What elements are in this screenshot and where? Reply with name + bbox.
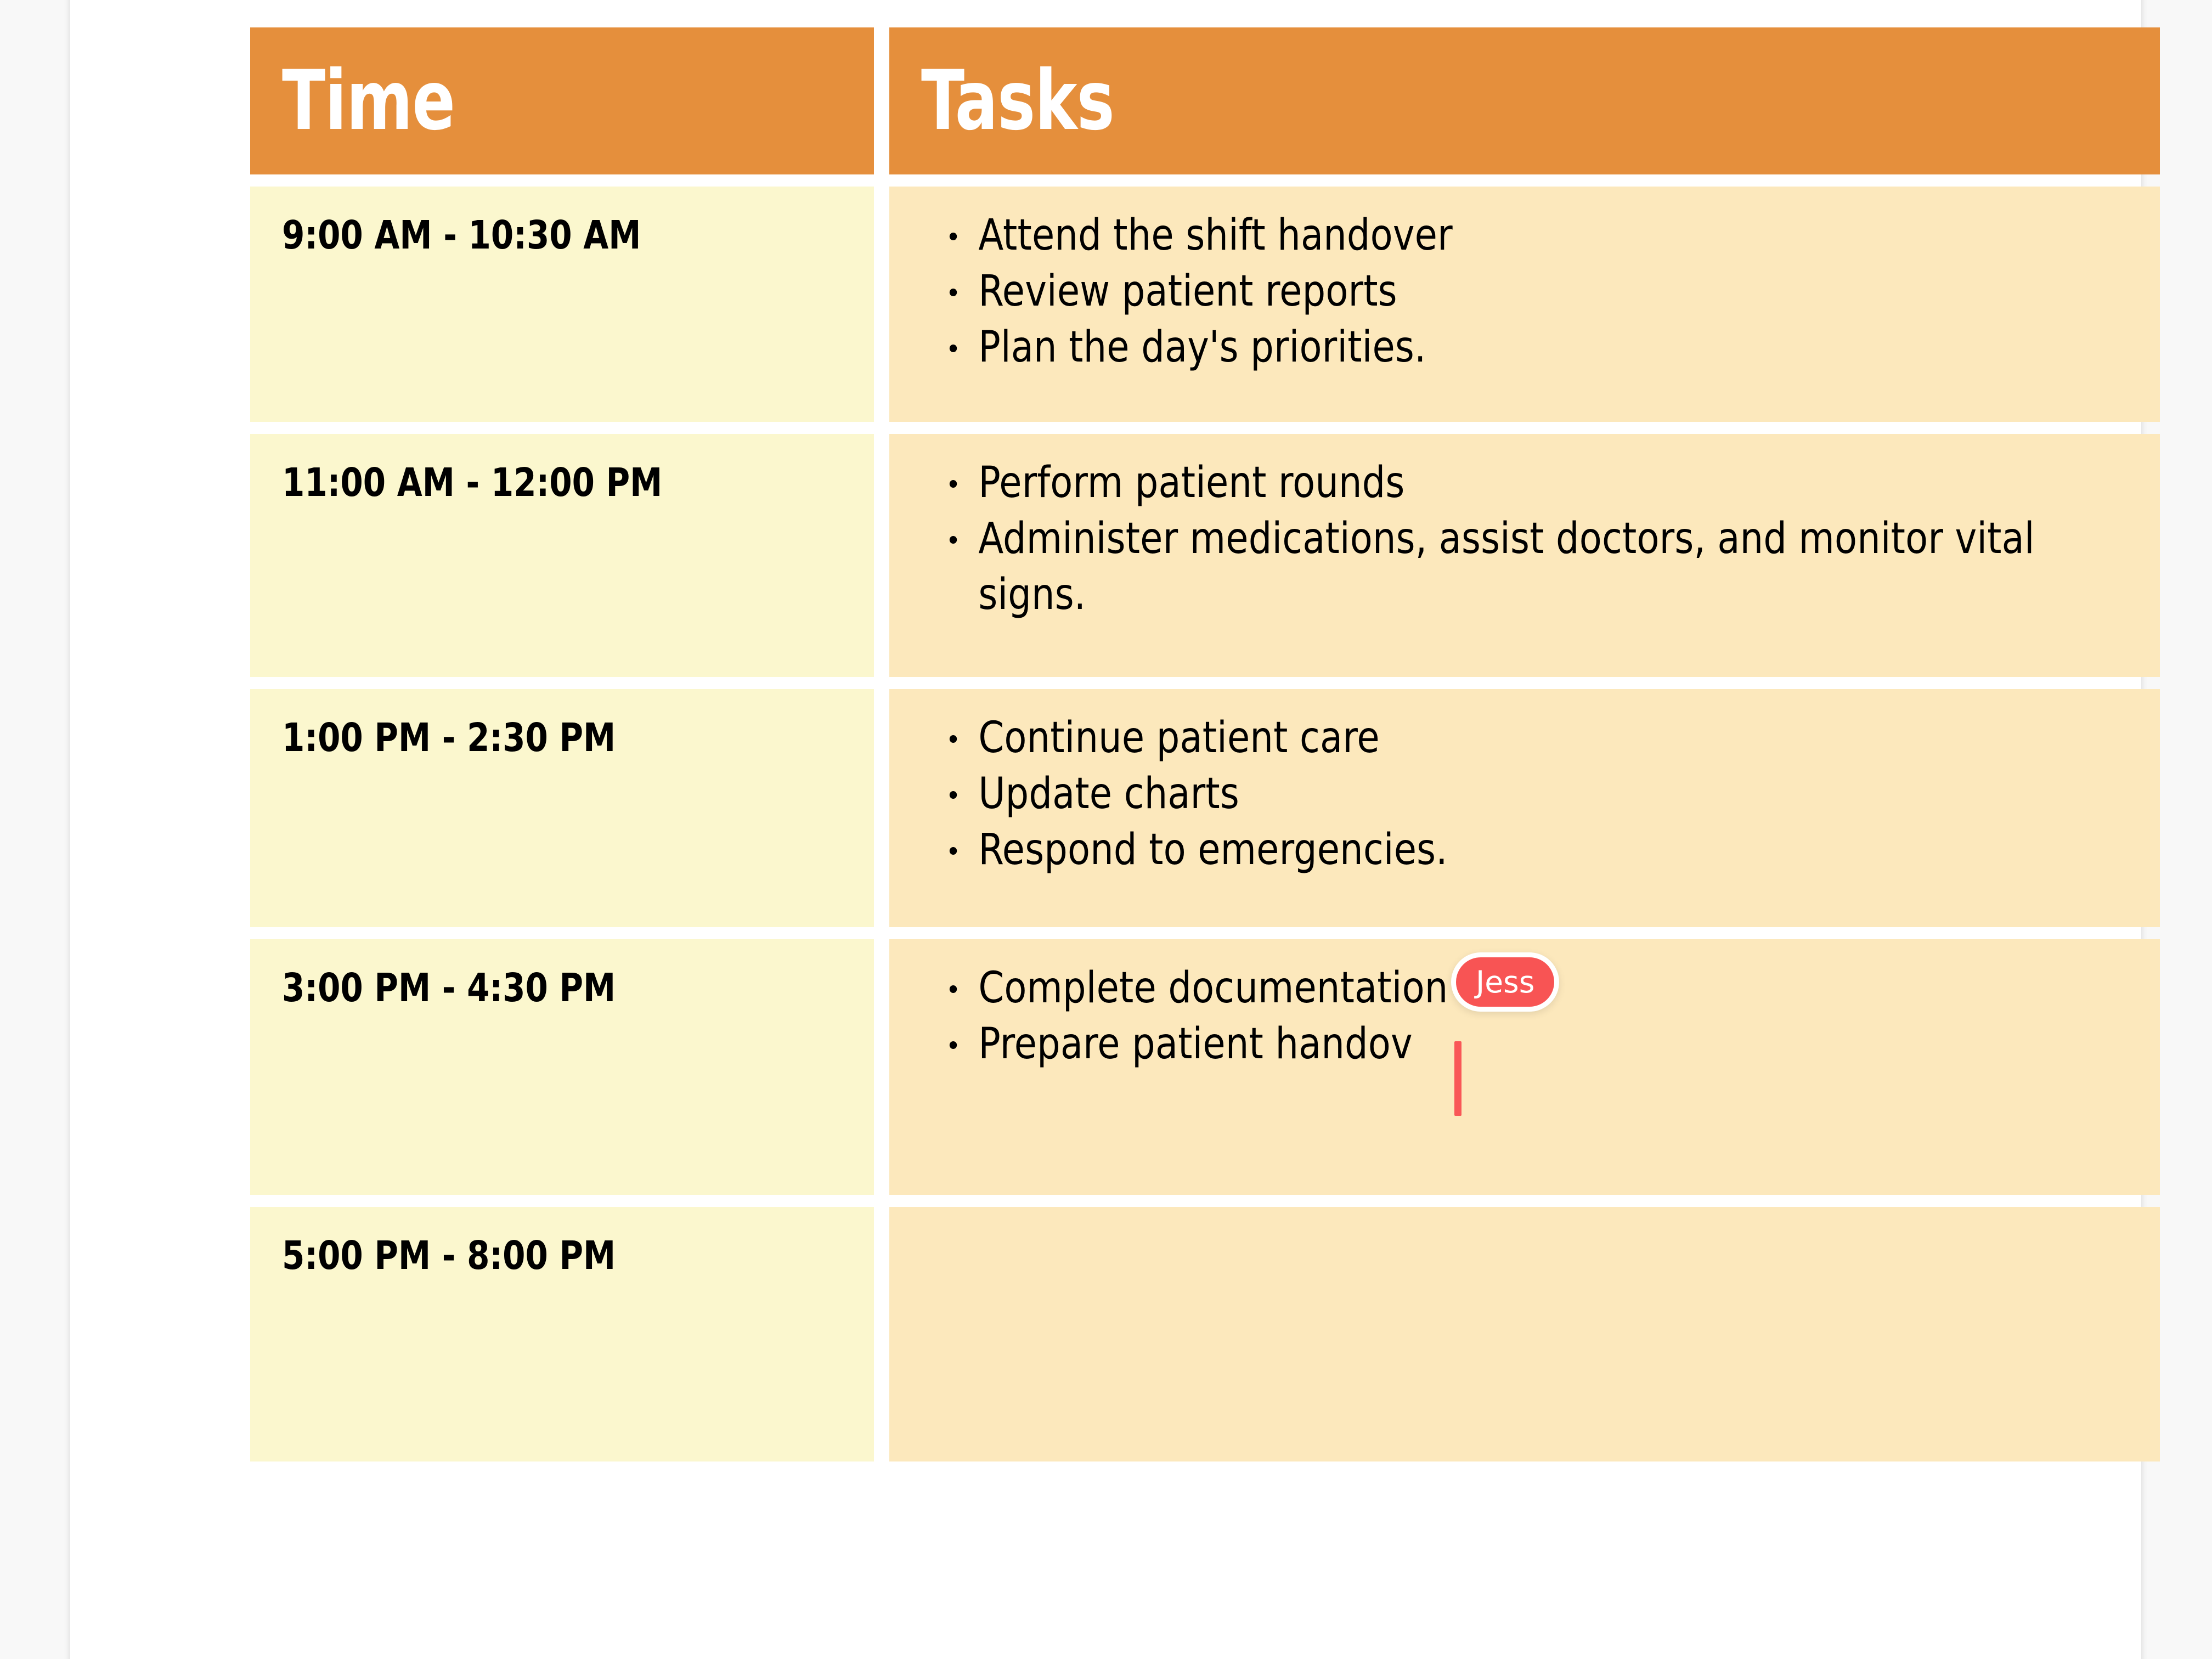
time-value: 3:00 PM - 4:30 PM <box>282 968 812 1009</box>
list-item-editing[interactable]: Prepare patient handov <box>889 1016 2071 1072</box>
task-list: Complete documentation Prepare patient h… <box>889 960 2127 1072</box>
tasks-cell-editing[interactable]: Complete documentation Prepare patient h… <box>889 939 2160 1195</box>
tasks-cell[interactable]: Continue patient care Update charts Resp… <box>889 689 2160 927</box>
time-cell[interactable]: 9:00 AM - 10:30 AM <box>250 187 874 422</box>
tasks-cell-empty[interactable] <box>889 1207 2160 1462</box>
table-row[interactable]: 5:00 PM - 8:00 PM <box>250 1207 2160 1462</box>
list-item[interactable]: Administer medications, assist doctors, … <box>889 511 2071 623</box>
header-label-tasks: Tasks <box>921 60 1114 142</box>
table-header-row: Time Tasks <box>250 27 2160 174</box>
list-item[interactable]: Continue patient care <box>889 710 2071 766</box>
time-value: 11:00 AM - 12:00 PM <box>282 462 812 504</box>
page-gutter-left <box>0 0 70 1659</box>
time-value: 1:00 PM - 2:30 PM <box>282 718 812 759</box>
tasks-cell[interactable]: Perform patient rounds Administer medica… <box>889 434 2160 677</box>
time-value: 5:00 PM - 8:00 PM <box>282 1235 812 1277</box>
list-item[interactable]: Update charts <box>889 766 2071 822</box>
list-item[interactable]: Respond to emergencies. <box>889 822 2071 878</box>
schedule-table[interactable]: Time Tasks 9:00 AM - 10:30 AM Attend the… <box>250 27 2160 1474</box>
time-cell[interactable]: 11:00 AM - 12:00 PM <box>250 434 874 677</box>
document-page[interactable]: Time Tasks 9:00 AM - 10:30 AM Attend the… <box>70 0 2141 1659</box>
list-item[interactable]: Complete documentation <box>889 960 2071 1016</box>
table-row[interactable]: 9:00 AM - 10:30 AM Attend the shift hand… <box>250 187 2160 422</box>
task-list: Perform patient rounds Administer medica… <box>889 455 2127 623</box>
time-cell[interactable]: 5:00 PM - 8:00 PM <box>250 1207 874 1462</box>
tasks-cell[interactable]: Attend the shift handover Review patient… <box>889 187 2160 422</box>
screenshot-canvas: Time Tasks 9:00 AM - 10:30 AM Attend the… <box>0 0 2212 1659</box>
time-cell[interactable]: 1:00 PM - 2:30 PM <box>250 689 874 927</box>
header-label-time: Time <box>282 60 455 142</box>
table-row[interactable]: 11:00 AM - 12:00 PM Perform patient roun… <box>250 434 2160 677</box>
task-list: Attend the shift handover Review patient… <box>889 207 2127 376</box>
task-list: Continue patient care Update charts Resp… <box>889 710 2127 878</box>
list-item[interactable]: Review patient reports <box>889 263 2071 319</box>
time-value: 9:00 AM - 10:30 AM <box>282 215 812 256</box>
table-row[interactable]: 3:00 PM - 4:30 PM Complete documentation… <box>250 939 2160 1195</box>
table-row[interactable]: 1:00 PM - 2:30 PM Continue patient care … <box>250 689 2160 927</box>
time-cell[interactable]: 3:00 PM - 4:30 PM <box>250 939 874 1195</box>
header-cell-tasks: Tasks <box>889 27 2160 174</box>
header-cell-time: Time <box>250 27 874 174</box>
list-item[interactable]: Attend the shift handover <box>889 207 2071 263</box>
list-item[interactable]: Perform patient rounds <box>889 455 2071 511</box>
list-item[interactable]: Plan the day's priorities. <box>889 319 2071 375</box>
